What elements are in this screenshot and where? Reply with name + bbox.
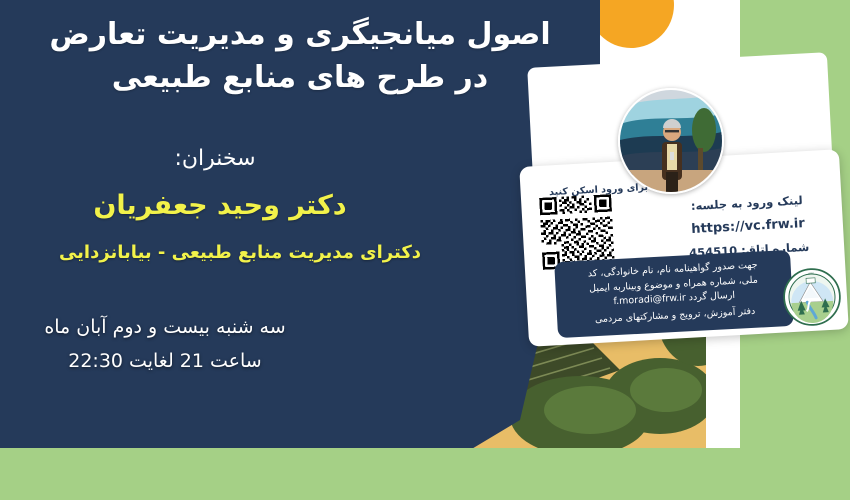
speaker-label: سخنران: — [0, 146, 430, 171]
green-bottom-band — [0, 448, 850, 500]
speaker-name: دکتر وحید جعفریان — [0, 190, 440, 221]
title-line-1: اصول میانجیگری و مدیریت تعارض — [49, 17, 550, 52]
meeting-link-url[interactable]: https://vc.frw.ir — [650, 214, 847, 239]
info-send-text: ارسال گردد — [689, 290, 736, 303]
speaker-photo — [618, 88, 724, 194]
page-title: اصول میانجیگری و مدیریت تعارض در طرح های… — [0, 14, 600, 99]
event-date: سه شنبه بیست و دوم آبان ماه — [0, 316, 330, 338]
event-time: ساعت 21 لغایت 22:30 — [0, 350, 330, 372]
organization-seal-icon: ١٣٤٢ — [782, 267, 843, 328]
contact-email[interactable]: f.moradi@frw.ir — [613, 292, 686, 310]
svg-text:١٣٤٢: ١٣٤٢ — [807, 271, 814, 275]
title-line-2: در طرح های منابع طبیعی — [14, 57, 586, 100]
qr-code-icon[interactable] — [539, 194, 615, 270]
webinar-poster: اصول میانجیگری و مدیریت تعارض در طرح های… — [0, 0, 850, 500]
certificate-info-box: جهت صدور گواهینامه نام، نام خانوادگی، کد… — [554, 250, 794, 338]
speaker-credential: دکترای مدیریت منابع طبیعی - بیابانزدایی — [0, 242, 480, 263]
